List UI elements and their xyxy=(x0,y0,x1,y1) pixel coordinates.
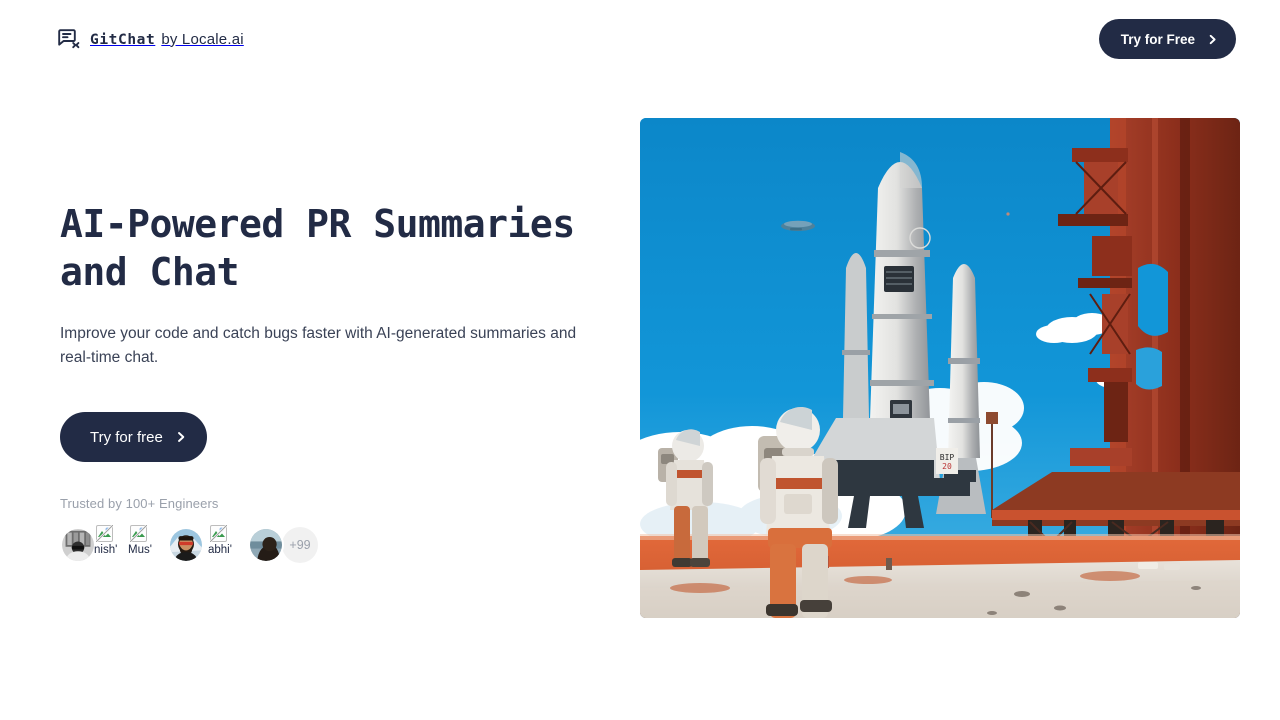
brand-logo[interactable]: GitChat by Locale.ai xyxy=(56,27,244,51)
broken-image-icon xyxy=(210,525,227,542)
svg-text:BIP: BIP xyxy=(940,453,955,462)
avatar xyxy=(168,527,204,563)
hero-try-for-free-button[interactable]: Try for free xyxy=(60,412,207,462)
broken-image-icon xyxy=(130,525,147,542)
avatar-broken-image: nish' xyxy=(94,527,130,563)
hero-illustration: BIP 20 xyxy=(640,118,1240,618)
trusted-avatar-group: nish' Mus' xyxy=(60,527,620,563)
hero-section: AI-Powered PR Summaries and Chat Improve… xyxy=(0,78,1280,720)
broken-image-icon xyxy=(96,525,113,542)
message-square-code-icon xyxy=(56,27,80,51)
trusted-by-label: Trusted by 100+ Engineers xyxy=(60,496,620,511)
chevron-right-icon xyxy=(1207,34,1218,45)
page-title: AI-Powered PR Summaries and Chat xyxy=(60,200,605,296)
hero-subheadline: Improve your code and catch bugs faster … xyxy=(60,322,608,370)
brand-name: GitChat xyxy=(90,32,155,48)
svg-text:20: 20 xyxy=(942,462,952,471)
avatar xyxy=(248,527,284,563)
brand-text: GitChat by Locale.ai xyxy=(90,31,244,48)
header-try-for-free-button[interactable]: Try for Free xyxy=(1099,19,1236,59)
avatar xyxy=(60,527,96,563)
hero-cta-label: Try for free xyxy=(90,429,163,446)
header-cta-label: Try for Free xyxy=(1121,32,1195,47)
avatar-broken-image: abhi' xyxy=(208,527,244,563)
avatar-alt-text: Mus' xyxy=(128,543,166,557)
hero-copy-column: AI-Powered PR Summaries and Chat Improve… xyxy=(60,200,620,563)
avatar-overflow-count: +99 xyxy=(282,527,318,563)
site-header: GitChat by Locale.ai Try for Free xyxy=(0,0,1280,78)
avatar-alt-text: abhi' xyxy=(208,543,246,557)
brand-suffix: by Locale.ai xyxy=(161,31,243,48)
avatar-broken-image: Mus' xyxy=(128,527,164,563)
avatar-alt-text: nish' xyxy=(94,543,132,557)
chevron-right-icon xyxy=(175,431,187,443)
